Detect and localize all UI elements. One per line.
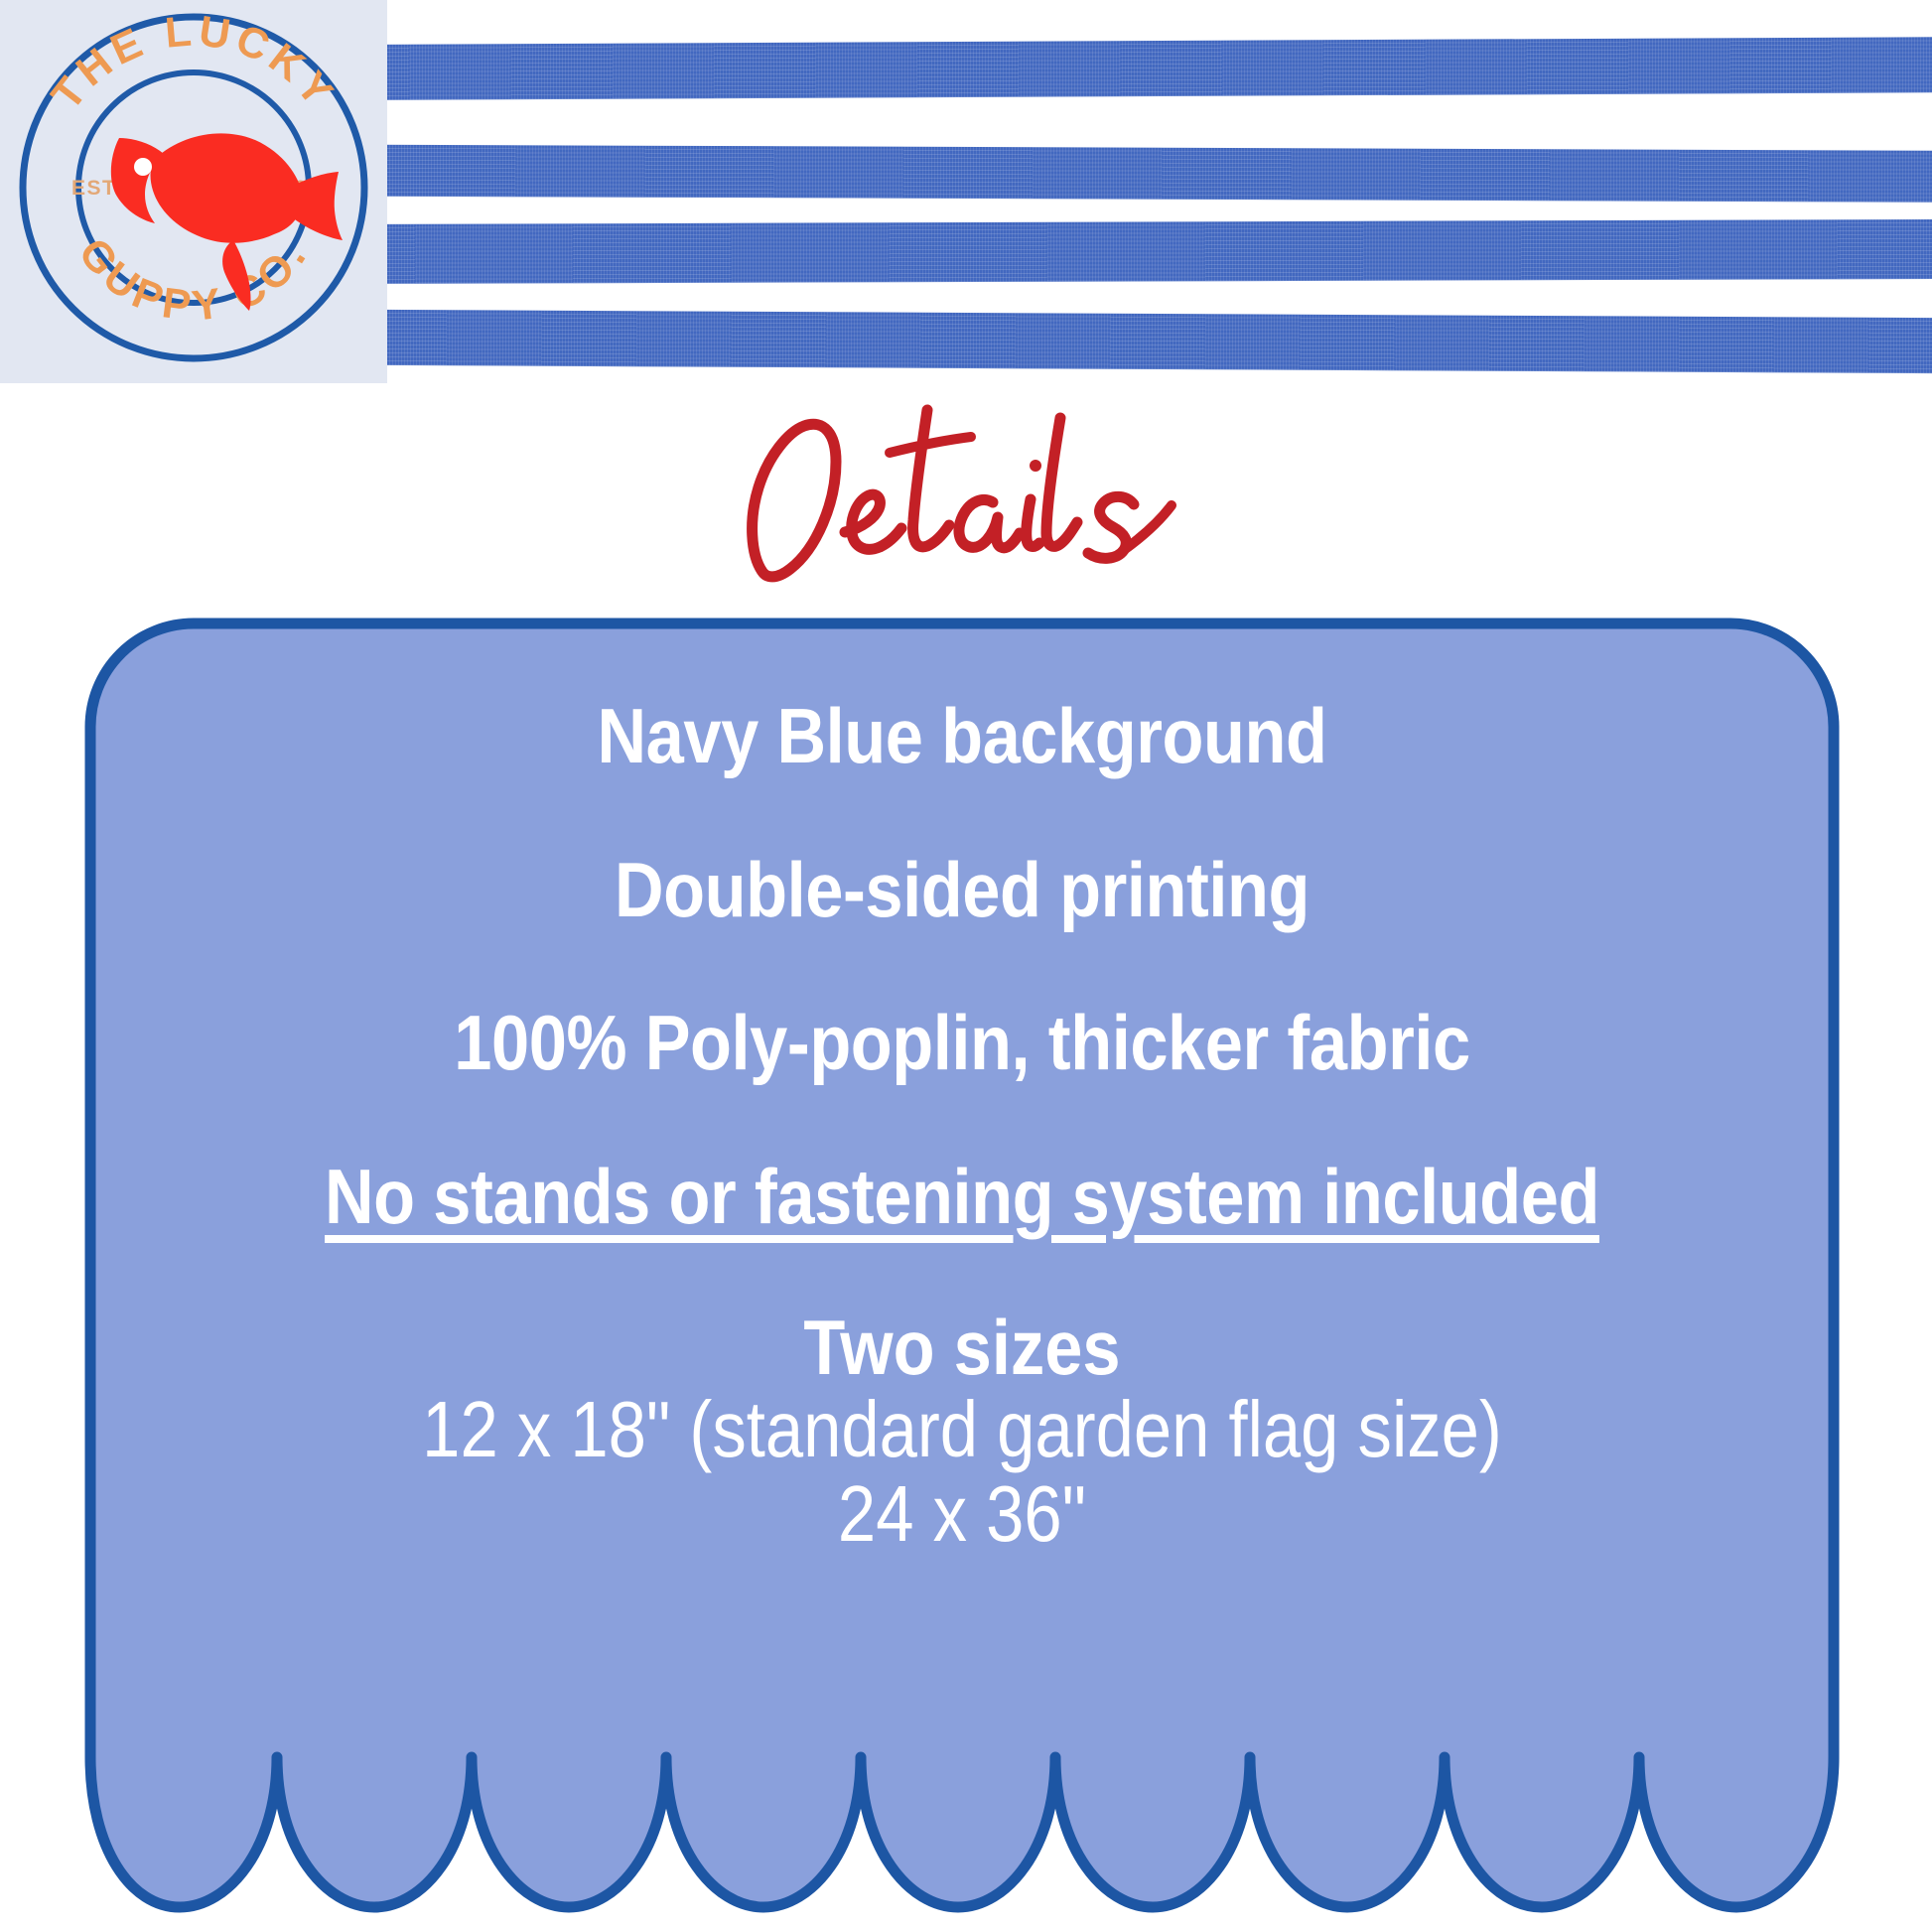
size-option-large: 24 x 36" <box>207 1472 1717 1557</box>
sizes-block: Two sizes 12 x 18" (standard garden flag… <box>84 1308 1840 1557</box>
logo-bottom-text: GUPPY CO. <box>69 229 318 331</box>
spacer <box>84 1084 1840 1156</box>
size-option-small: 12 x 18" (standard garden flag size) <box>207 1388 1717 1472</box>
detail-line-4-no-stands: No stands or fastening system included <box>190 1156 1734 1238</box>
sizes-title: Two sizes <box>190 1308 1734 1388</box>
page-title-details <box>0 385 1932 609</box>
details-script-lettering <box>733 388 1199 607</box>
detail-line-3: 100% Poly-poplin, thicker fabric <box>190 1002 1734 1084</box>
detail-line-1: Navy Blue background <box>190 695 1734 777</box>
spacer <box>84 777 1840 849</box>
details-card: Navy Blue background Double-sided printi… <box>84 618 1840 1913</box>
spacer <box>84 930 1840 1002</box>
detail-line-2: Double-sided printing <box>190 849 1734 931</box>
brand-logo-badge: THE LUCKY GUPPY CO. EST 2024 <box>0 0 387 383</box>
lucky-guppy-logo-icon: THE LUCKY GUPPY CO. EST 2024 <box>14 8 373 367</box>
logo-top-text: THE LUCKY <box>43 8 345 119</box>
card-content: Navy Blue background Double-sided printi… <box>84 618 1840 1913</box>
logo-est-label: EST <box>71 177 116 200</box>
